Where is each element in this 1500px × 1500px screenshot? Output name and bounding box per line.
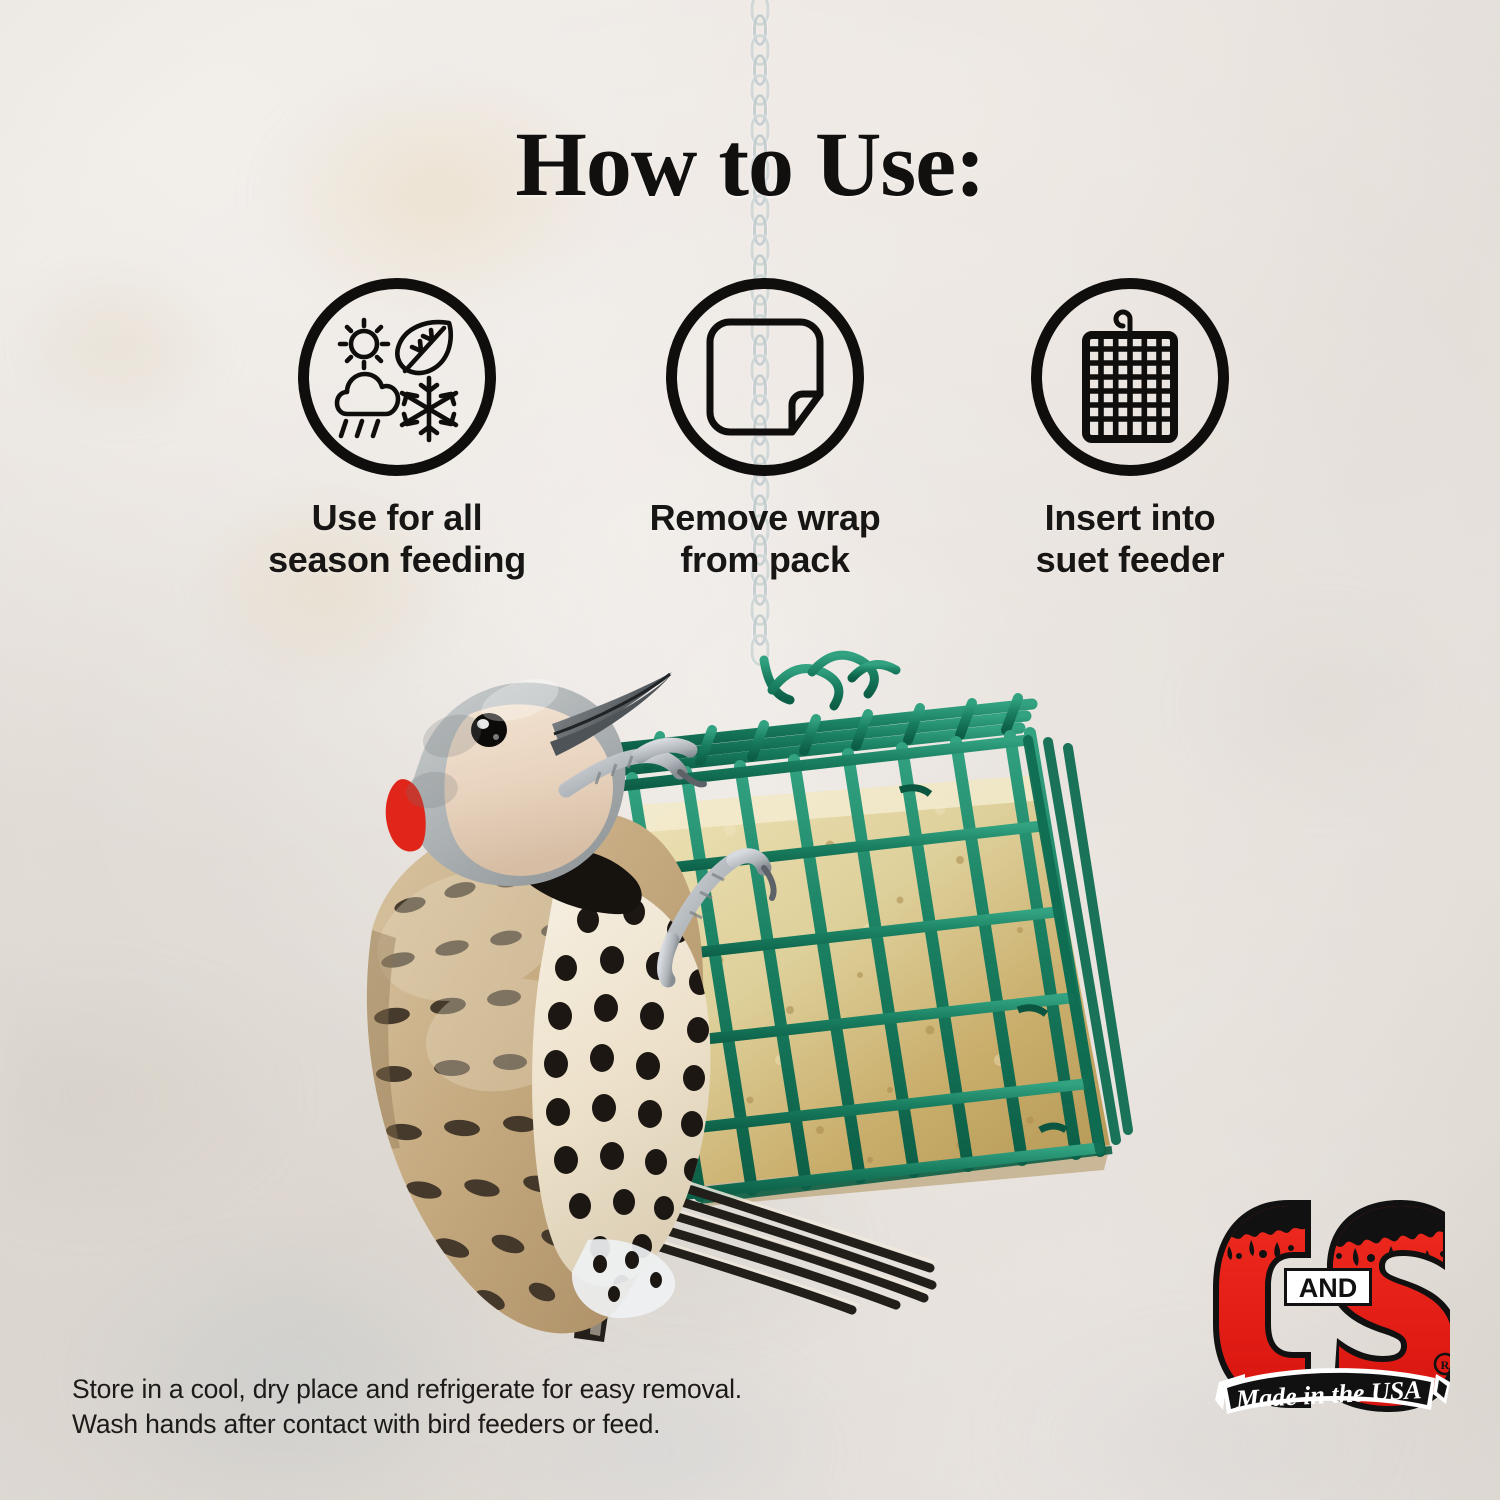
step-caption: Remove wrap from pack	[595, 497, 935, 582]
infographic-page: How to Use:	[0, 0, 1500, 1500]
step-insert-feeder: Insert into suet feeder	[960, 278, 1300, 582]
disclaimer-line2: Wash hands after contact with bird feede…	[72, 1407, 832, 1442]
step-caption-line1: Remove wrap	[595, 497, 935, 539]
snowflake-icon	[402, 378, 456, 440]
suet-cage-icon	[1031, 278, 1229, 476]
step-caption-line1: Use for all	[227, 497, 567, 539]
step-caption: Insert into suet feeder	[960, 497, 1300, 582]
step-caption-line2: from pack	[595, 539, 935, 581]
step-caption: Use for all season feeding	[227, 497, 567, 582]
four-seasons-icon	[298, 278, 496, 476]
leaf-icon	[397, 322, 450, 373]
sun-icon	[340, 320, 388, 368]
step-caption-line2: season feeding	[227, 539, 567, 581]
c-and-s-logo: AND R Made in the USA	[1205, 1196, 1450, 1436]
wrapper-peel-icon	[666, 278, 864, 476]
logo-and-badge: AND	[1284, 1268, 1372, 1306]
rain-cloud-icon	[337, 374, 398, 436]
wire-grid-cage	[1090, 339, 1170, 435]
step-caption-line2: suet feeder	[960, 539, 1300, 581]
disclaimer-line1: Store in a cool, dry place and refrigera…	[72, 1372, 832, 1407]
step-all-season: Use for all season feeding	[227, 278, 567, 582]
step-remove-wrap: Remove wrap from pack	[595, 278, 935, 582]
storage-disclaimer: Store in a cool, dry place and refrigera…	[72, 1372, 832, 1442]
step-caption-line1: Insert into	[960, 497, 1300, 539]
svg-text:R: R	[1441, 1358, 1450, 1372]
page-title: How to Use:	[0, 118, 1500, 210]
logo-and-text: AND	[1299, 1273, 1358, 1303]
how-to-steps: Use for all season feeding Remove wrap f…	[0, 278, 1500, 608]
